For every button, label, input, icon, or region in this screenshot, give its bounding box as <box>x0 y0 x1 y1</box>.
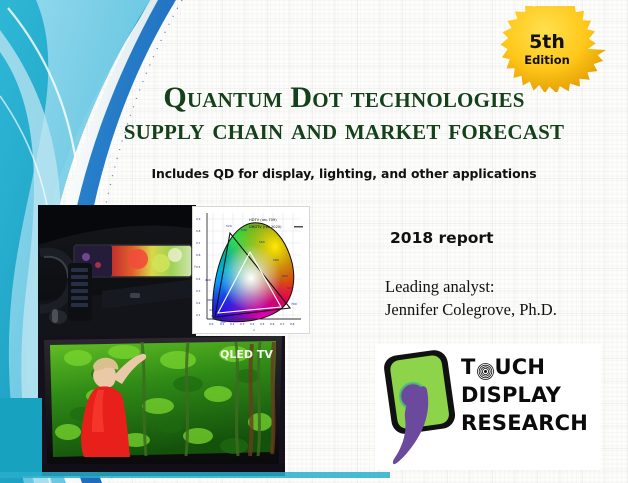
report-cover-slide: 5th Edition Quantum Dot technologies sup… <box>0 0 628 483</box>
logo-line-research: RESEARCH <box>461 410 588 438</box>
svg-text:600: 600 <box>282 274 288 278</box>
svg-text:0.4: 0.4 <box>250 322 255 326</box>
svg-text:0.6: 0.6 <box>270 322 275 326</box>
title-line-2: supply chain and market forecast <box>70 114 618 146</box>
concentric-rings-icon <box>477 360 494 377</box>
qled-tv-photo: QLED TV <box>38 336 285 476</box>
cie-legend-hdtv: HDTV (rec.709) <box>249 218 277 222</box>
svg-text:620: 620 <box>287 286 293 290</box>
badge-main-label: 5th <box>529 33 565 52</box>
svg-text:0.6: 0.6 <box>196 253 201 257</box>
qled-watermark: QLED TV <box>220 348 273 361</box>
edition-starburst-badge: 5th Edition <box>488 6 606 92</box>
svg-text:0.8: 0.8 <box>196 229 201 233</box>
svg-text:0.3: 0.3 <box>196 289 201 293</box>
svg-text:0.2: 0.2 <box>230 322 235 326</box>
svg-text:580: 580 <box>273 258 279 262</box>
badge-text-group: 5th Edition <box>488 6 606 92</box>
svg-text:700: 700 <box>291 302 297 306</box>
analyst-heading: Leading analyst: <box>385 276 557 299</box>
cie-ylabel: y <box>194 264 196 268</box>
svg-text:490: 490 <box>205 278 211 282</box>
logo-touch-prefix: T <box>461 354 476 382</box>
svg-text:0.0: 0.0 <box>209 322 214 326</box>
svg-text:0.1: 0.1 <box>196 313 201 317</box>
svg-text:520: 520 <box>226 224 232 228</box>
svg-text:0.3: 0.3 <box>240 322 245 326</box>
logo-wordmark: T UCH DISPLAY RESEARCH <box>461 354 588 438</box>
title-line-1: Quantum Dot technologies <box>70 82 618 114</box>
logo-line-display: DISPLAY <box>461 382 588 410</box>
svg-text:0.8: 0.8 <box>290 322 295 326</box>
logo-mark-icon <box>375 348 459 468</box>
analyst-block: Leading analyst: Jennifer Colegrove, Ph.… <box>385 276 557 322</box>
touch-display-research-logo: T UCH DISPLAY RESEARCH <box>375 344 601 470</box>
svg-text:480: 480 <box>207 298 213 302</box>
badge-sub-label: Edition <box>524 55 570 67</box>
page-title: Quantum Dot technologies supply chain an… <box>70 82 618 146</box>
svg-text:470: 470 <box>209 308 215 312</box>
cie-chromaticity-diagram: 0.90.80.7 0.60.50.4 0.30.20.1 0.00.10.2 … <box>192 206 310 334</box>
car-interior-qd-display-photo <box>38 205 196 339</box>
svg-text:0.9: 0.9 <box>196 217 201 221</box>
logo-line-touch: T UCH <box>461 354 588 382</box>
svg-text:0.5: 0.5 <box>196 265 201 269</box>
cie-xlabel: x <box>253 328 255 332</box>
cie-legend-uhdtv: UHDTV (rec.2020) <box>249 225 282 229</box>
teal-accent-strip <box>0 472 390 478</box>
svg-text:380: 380 <box>220 320 226 324</box>
svg-text:0.7: 0.7 <box>280 322 285 326</box>
report-year-label: 2018 report <box>390 229 494 247</box>
svg-text:460: 460 <box>211 314 217 318</box>
analyst-name: Jennifer Colegrove, Ph.D. <box>385 299 557 322</box>
logo-touch-suffix: UCH <box>495 354 546 382</box>
svg-text:0.5: 0.5 <box>260 322 265 326</box>
svg-text:0.4: 0.4 <box>196 277 201 281</box>
svg-text:0.2: 0.2 <box>196 301 201 305</box>
teal-accent-block <box>0 398 42 476</box>
subtitle: Includes QD for display, lighting, and o… <box>70 166 618 181</box>
svg-text:540: 540 <box>241 228 247 232</box>
svg-text:560: 560 <box>259 240 265 244</box>
svg-text:0.7: 0.7 <box>196 241 201 245</box>
